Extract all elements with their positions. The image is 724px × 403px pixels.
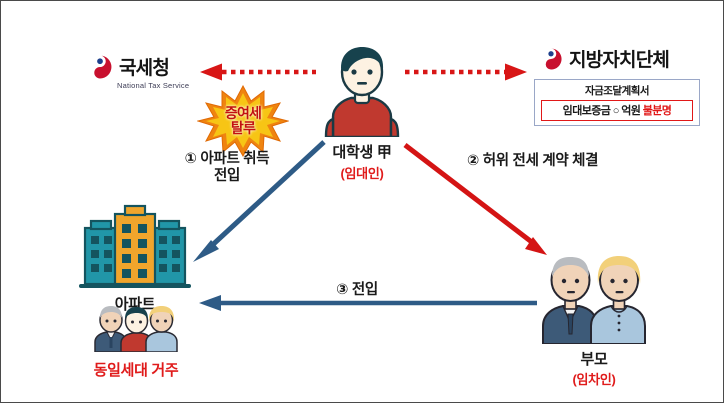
burst-line-1: 증여세	[225, 106, 261, 121]
funding-plan-document: 자금조달계획서 임대보증금 ○ 억원 불분명	[534, 79, 700, 126]
node-student: 대학생 甲 (임대인)	[323, 45, 401, 182]
false-lease-arrow	[399, 139, 559, 264]
local-gov-name: 지방자치단체	[569, 45, 669, 72]
family-group-icon	[93, 304, 179, 352]
student-label: 대학생 甲	[323, 144, 401, 162]
student-person-icon	[323, 45, 401, 137]
burst-text: 증여세 탈루	[225, 106, 261, 135]
node-parents: 부모 (임차인)	[541, 252, 647, 388]
acquisition-arrow	[181, 136, 331, 266]
document-unclear-text: 불분명	[643, 105, 672, 117]
move-in-arrow	[197, 295, 537, 311]
parents-sub-label: (임차인)	[541, 369, 647, 388]
household-label: 동일세대 거주	[93, 359, 179, 380]
node-tax-office: 국세청 National Tax Service	[87, 53, 189, 90]
apartment-building-icon	[77, 204, 193, 290]
node-household: 동일세대 거주	[93, 304, 179, 380]
parents-label: 부모	[541, 351, 647, 369]
document-deposit-text: 임대보증금 ○ 억원	[563, 105, 641, 117]
funding-plan-arrow	[405, 63, 530, 81]
diagram-canvas: 국세청 National Tax Service 지방자치단체 자금조달계획서 …	[0, 0, 724, 403]
document-highlight-row: 임대보증금 ○ 억원 불분명	[541, 100, 693, 121]
node-apartment: 아파트	[77, 204, 193, 314]
tax-office-name-en: National Tax Service	[117, 81, 189, 90]
tax-office-name: 국세청	[119, 53, 169, 80]
node-local-gov: 지방자치단체	[539, 45, 669, 72]
document-title: 자금조달계획서	[541, 83, 693, 98]
taegeuk-icon	[87, 54, 113, 80]
student-sub-label: (임대인)	[323, 163, 401, 182]
tax-report-arrow	[196, 63, 316, 81]
taegeuk-icon	[539, 47, 563, 71]
parents-couple-icon	[541, 252, 647, 344]
burst-line-2: 탈루	[225, 121, 261, 136]
